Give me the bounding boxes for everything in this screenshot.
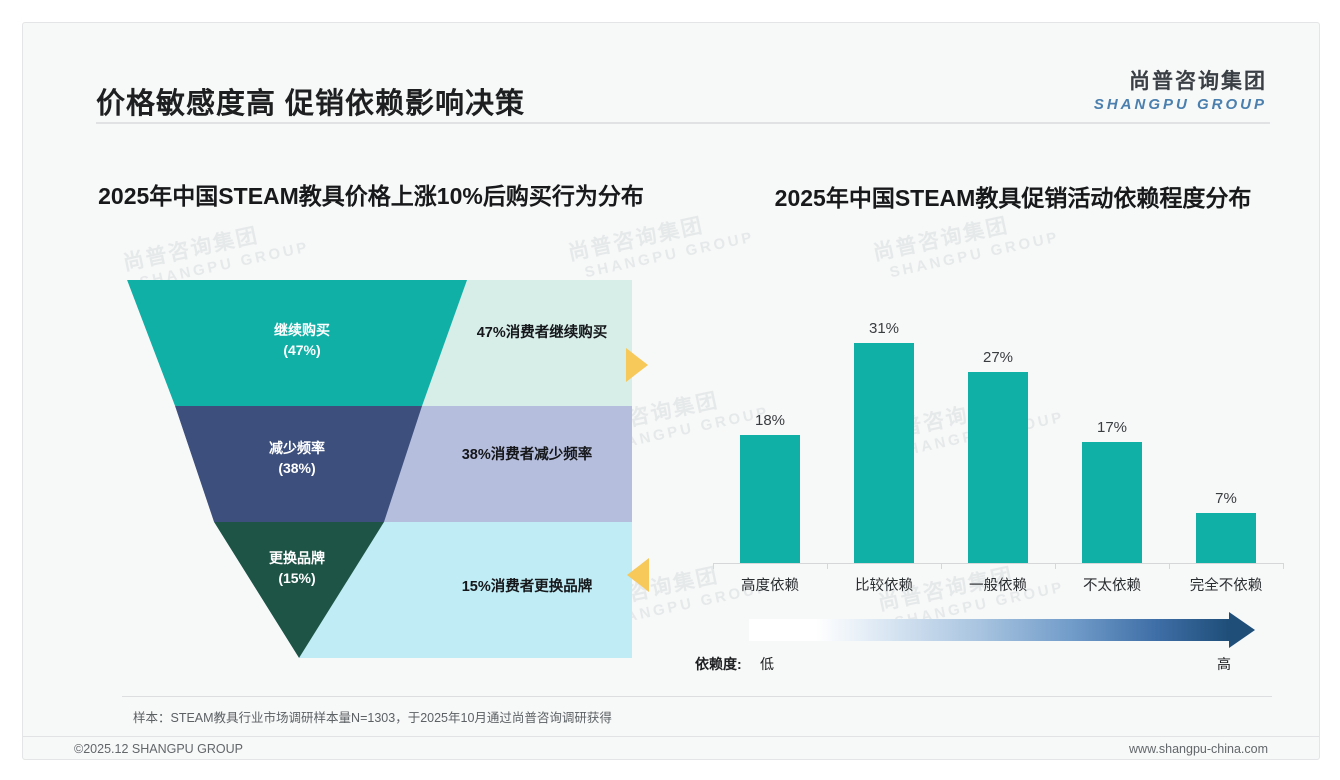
dependency-gradient-bar	[749, 619, 1229, 641]
bar-chart-axis	[713, 563, 1283, 564]
bar-column: 18%	[713, 288, 827, 563]
bar-value-label: 7%	[1169, 490, 1283, 507]
bar-column: 31%	[827, 288, 941, 563]
bar-value-label: 18%	[713, 412, 827, 429]
bar-value-label: 31%	[827, 320, 941, 337]
bar-category-label: 完全不依赖	[1169, 574, 1283, 595]
bar-value-label: 27%	[941, 349, 1055, 366]
header-divider	[96, 122, 1270, 124]
arrow-right-icon	[626, 348, 648, 382]
bar-value-label: 17%	[1055, 419, 1169, 436]
funnel-chart: 继续购买 (47%) 减少频率 (38%) 更换品牌 (15%) 47%消费者继…	[122, 280, 632, 658]
bar-column: 17%	[1055, 288, 1169, 563]
bar-category-label: 一般依赖	[941, 574, 1055, 595]
slide-card: 尚普咨询集团 SHANGPU GROUP 尚普咨询集团 SHANGPU GROU…	[22, 22, 1320, 760]
gradient-legend-title: 依赖度:	[695, 654, 742, 674]
bar-rect	[1196, 513, 1256, 563]
slide-root: 尚普咨询集团 SHANGPU GROUP 尚普咨询集团 SHANGPU GROU…	[0, 0, 1340, 780]
source-note: 样本：STEAM教具行业市场调研样本量N=1303，于2025年10月通过尚普咨…	[133, 707, 612, 726]
footer-copyright: ©2025.12 SHANGPU GROUP	[74, 742, 243, 756]
axis-tick	[1283, 563, 1284, 569]
footer-divider	[23, 736, 1319, 737]
watermark-en: SHANGPU GROUP	[888, 229, 1061, 282]
bar-column: 7%	[1169, 288, 1283, 563]
gradient-low-label: 低	[760, 654, 774, 674]
logo-text-cn: 尚普咨询集团	[1094, 65, 1267, 95]
bar-chart-plot: 18% 31% 27% 17% 7%	[713, 288, 1283, 563]
bar-category-label: 高度依赖	[713, 574, 827, 595]
funnel-segment-2	[175, 406, 422, 522]
bar-rect	[968, 372, 1028, 563]
axis-tick	[713, 563, 714, 569]
bar-category-label: 比较依赖	[827, 574, 941, 595]
watermark-en: SHANGPU GROUP	[583, 229, 756, 282]
arrow-left-icon	[627, 558, 649, 592]
bar-rect	[740, 435, 800, 563]
brand-logo: 尚普咨询集团 SHANGPU GROUP	[1094, 65, 1267, 113]
logo-text-en: SHANGPU GROUP	[1094, 96, 1267, 113]
gradient-high-label: 高	[1217, 654, 1231, 674]
funnel-segment-1	[127, 280, 467, 406]
funnel-chart-title: 2025年中国STEAM教具价格上涨10%后购买行为分布	[41, 181, 701, 213]
axis-tick	[941, 563, 942, 569]
bar-category-label: 不太依赖	[1055, 574, 1169, 595]
axis-tick	[1169, 563, 1170, 569]
source-divider	[122, 696, 1272, 697]
bar-chart-title: 2025年中国STEAM教具促销活动依赖程度分布	[713, 183, 1313, 215]
funnel-svg	[122, 280, 632, 658]
bar-column: 27%	[941, 288, 1055, 563]
axis-tick	[827, 563, 828, 569]
axis-tick	[1055, 563, 1056, 569]
bar-rect	[1082, 442, 1142, 563]
bar-rect	[854, 343, 914, 563]
watermark-cn: 尚普咨询集团	[120, 209, 307, 277]
footer-website[interactable]: www.shangpu-china.com	[1129, 742, 1268, 756]
gradient-arrow-head-icon	[1229, 612, 1255, 648]
page-title: 价格敏感度高 促销依赖影响决策	[96, 80, 525, 122]
